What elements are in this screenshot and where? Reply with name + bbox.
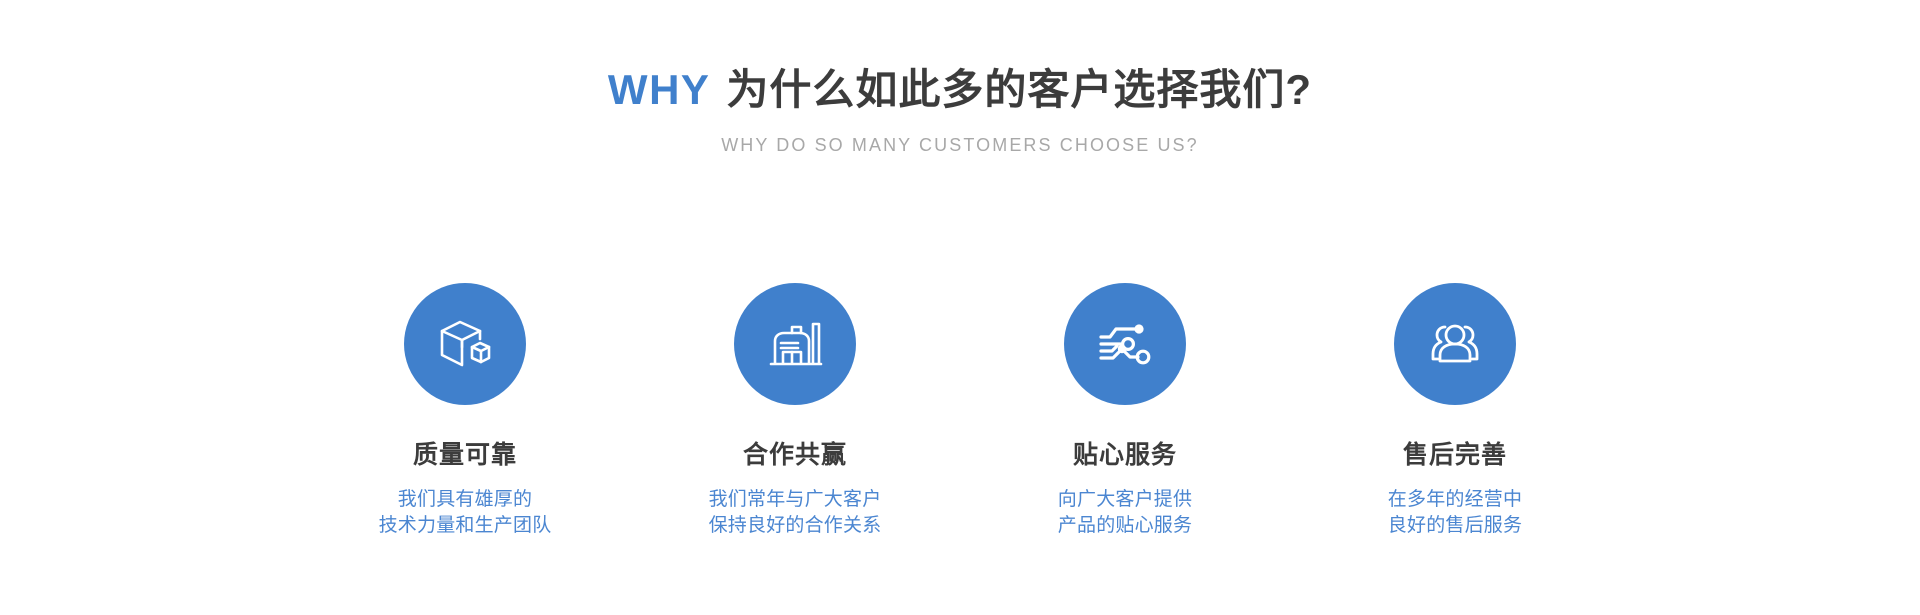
feature-item-quality[interactable]: 质量可靠 我们具有雄厚的 技术力量和生产团队 bbox=[300, 283, 630, 540]
feature-title: 贴心服务 bbox=[1073, 442, 1177, 470]
section-heading: WHY为什么如此多的客户选择我们? WHY DO SO MANY CUSTOME… bbox=[0, 66, 1920, 156]
feature-desc-line-2: 保持良好的合作关系 bbox=[709, 513, 882, 540]
title-cn: 为什么如此多的客户选择我们? bbox=[726, 66, 1312, 113]
feature-desc-line-2: 技术力量和生产团队 bbox=[379, 513, 552, 540]
why-choose-us-section: WHY为什么如此多的客户选择我们? WHY DO SO MANY CUSTOME… bbox=[0, 0, 1920, 615]
feature-desc-line-1: 向广大客户提供 bbox=[1058, 487, 1192, 514]
feature-item-cooperation[interactable]: 合作共赢 我们常年与广大客户 保持良好的合作关系 bbox=[630, 283, 960, 540]
feature-description: 我们具有雄厚的 技术力量和生产团队 bbox=[379, 487, 552, 541]
feature-description: 在多年的经营中 良好的售后服务 bbox=[1388, 487, 1522, 541]
feature-title: 合作共赢 bbox=[743, 442, 847, 470]
feature-desc-line-1: 在多年的经营中 bbox=[1388, 487, 1522, 514]
package-box-icon bbox=[404, 283, 526, 405]
feature-title: 售后完善 bbox=[1403, 442, 1507, 470]
feature-desc-line-1: 我们具有雄厚的 bbox=[379, 487, 552, 514]
factory-icon bbox=[734, 283, 856, 405]
feature-item-after-sales[interactable]: 售后完善 在多年的经营中 良好的售后服务 bbox=[1290, 283, 1620, 540]
feature-title: 质量可靠 bbox=[413, 442, 517, 470]
users-group-icon bbox=[1394, 283, 1516, 405]
circuit-network-icon bbox=[1064, 283, 1186, 405]
feature-desc-line-2: 良好的售后服务 bbox=[1388, 513, 1522, 540]
feature-description: 我们常年与广大客户 保持良好的合作关系 bbox=[709, 487, 882, 541]
feature-description: 向广大客户提供 产品的贴心服务 bbox=[1058, 487, 1192, 541]
page-title: WHY为什么如此多的客户选择我们? bbox=[0, 66, 1920, 114]
title-en: WHY bbox=[608, 66, 711, 113]
feature-desc-line-1: 我们常年与广大客户 bbox=[709, 487, 882, 514]
feature-desc-line-2: 产品的贴心服务 bbox=[1058, 513, 1192, 540]
feature-list: 质量可靠 我们具有雄厚的 技术力量和生产团队 bbox=[300, 283, 1620, 540]
section-subtitle: WHY DO SO MANY CUSTOMERS CHOOSE US? bbox=[0, 135, 1920, 156]
feature-item-service[interactable]: 贴心服务 向广大客户提供 产品的贴心服务 bbox=[960, 283, 1290, 540]
